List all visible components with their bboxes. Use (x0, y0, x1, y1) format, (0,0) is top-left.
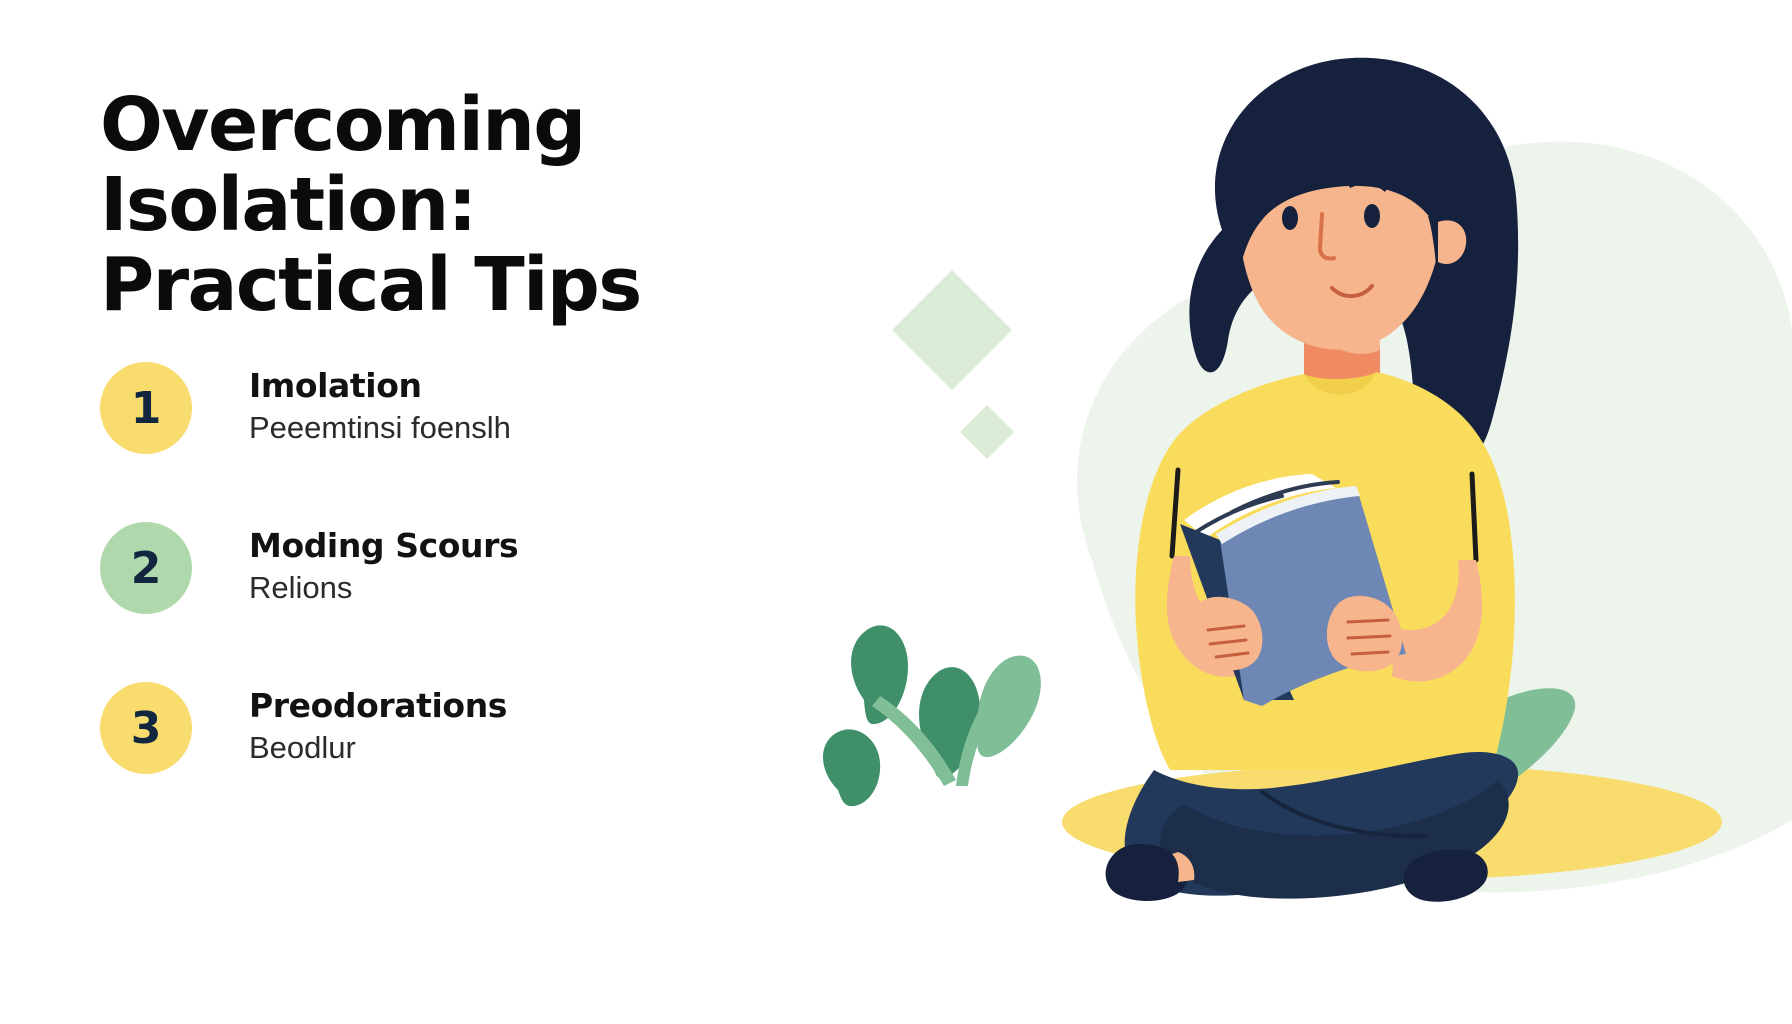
hand-left (1191, 597, 1262, 671)
woman-reading-book-illustration (792, 0, 1792, 1024)
hair-back (1189, 58, 1518, 473)
neck-shadow (1304, 318, 1380, 392)
plant-stem (872, 696, 956, 786)
book-page-line (1232, 482, 1338, 512)
sleeve-seam-right (1472, 474, 1476, 560)
book-page-edge (1216, 486, 1360, 544)
finger-line (1208, 626, 1244, 630)
tip-title: Preodorations (249, 688, 507, 724)
pants-crease (1262, 792, 1426, 836)
hand-right (1327, 596, 1402, 671)
leaf-shape (1412, 688, 1575, 811)
hair-front (1223, 78, 1489, 330)
sleeve-seam-left (1172, 470, 1178, 556)
shirt (1135, 372, 1515, 770)
finger-line (1210, 640, 1246, 644)
book-pages (1184, 474, 1336, 538)
leaf-shape (823, 729, 880, 806)
eye-left (1282, 206, 1298, 230)
eye-right (1364, 204, 1380, 228)
tip-number-badge: 1 (100, 362, 192, 454)
slide-canvas: Overcoming Isolation: Practical Tips 1 I… (0, 0, 1792, 1024)
finger-line (1352, 652, 1388, 654)
book-left-cover (1180, 524, 1294, 700)
tips-list: 1 Imolation Peeemtinsi foenslh 2 Moding … (100, 360, 800, 840)
floor-ellipse (1062, 764, 1722, 880)
page-title: Overcoming Isolation: Practical Tips (100, 86, 800, 326)
open-book (1180, 474, 1406, 706)
tip-number-badge: 3 (100, 682, 192, 774)
tip-number-badge: 2 (100, 522, 192, 614)
plant-stem (956, 696, 998, 786)
arm-left (1167, 556, 1244, 677)
pants (1125, 752, 1518, 896)
list-item: 2 Moding Scours Relions (100, 520, 800, 680)
leaf-shape (977, 656, 1041, 757)
arm-right (1392, 560, 1482, 682)
plant-left (823, 625, 1041, 806)
tip-text-block: Imolation Peeemtinsi foenslh (249, 360, 511, 446)
ear (1438, 220, 1466, 264)
tip-text-block: Moding Scours Relions (249, 520, 518, 606)
tip-subtitle: Beodlur (249, 730, 507, 766)
eyebrow-left (1266, 178, 1306, 193)
tip-title: Moding Scours (249, 528, 518, 564)
leaf-shape (851, 625, 908, 724)
book-page-line (1196, 496, 1282, 532)
shirt-collar (1304, 372, 1376, 395)
content-column: Overcoming Isolation: Practical Tips 1 I… (100, 86, 800, 326)
nose (1320, 214, 1334, 259)
tip-text-block: Preodorations Beodlur (249, 680, 507, 766)
finger-line (1348, 620, 1388, 622)
woman-figure (1106, 58, 1519, 902)
shoe-right (1404, 850, 1488, 902)
pants-far-leg (1160, 780, 1509, 899)
background-blob (1077, 141, 1792, 892)
shoe-left (1106, 844, 1188, 901)
list-item: 1 Imolation Peeemtinsi foenslh (100, 360, 800, 520)
neck (1304, 310, 1380, 392)
finger-line (1348, 636, 1390, 638)
plant-right (1371, 476, 1575, 812)
mouth (1332, 286, 1372, 296)
diamond-accent-small-icon (960, 405, 1014, 459)
list-item: 3 Preodorations Beodlur (100, 680, 800, 840)
face (1236, 94, 1444, 350)
eyebrow-right (1346, 175, 1390, 192)
hair-side-strand (1412, 214, 1460, 444)
tip-subtitle: Relions (249, 570, 518, 606)
tip-title: Imolation (249, 368, 511, 404)
diamond-accent-icon (892, 270, 1012, 390)
leaf-shape (1371, 476, 1510, 751)
book-right-cover (1220, 492, 1406, 706)
ankle-skin (1172, 852, 1194, 882)
tip-subtitle: Peeemtinsi foenslh (249, 410, 511, 446)
leaf-shape (919, 667, 980, 778)
finger-line (1216, 653, 1248, 657)
